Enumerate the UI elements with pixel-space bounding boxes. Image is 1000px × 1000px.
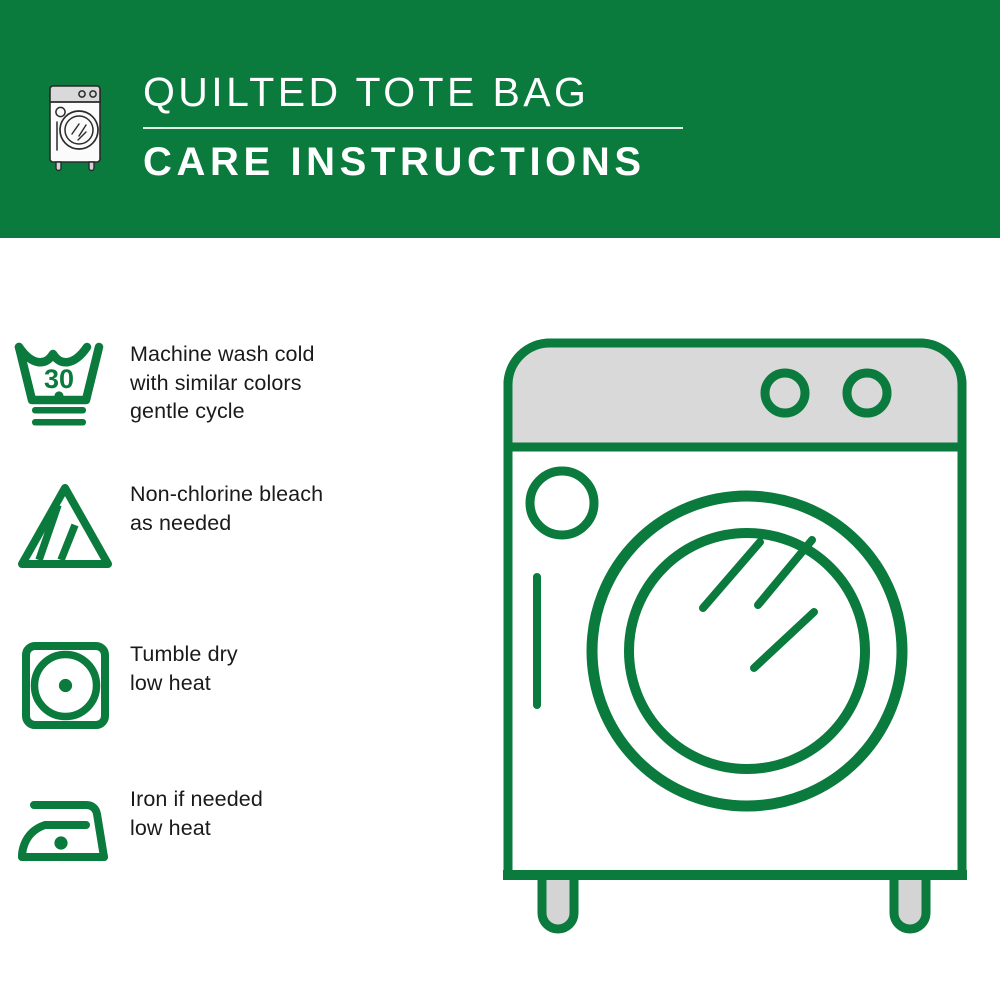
care-instructions-list: 30 Machine wash cold with similar colors… xyxy=(0,238,480,1000)
care-item-iron: Iron if needed low heat xyxy=(0,783,480,879)
page-title-product: QUILTED TOTE BAG xyxy=(143,66,703,118)
care-item-bleach: Non-chlorine bleach as needed xyxy=(0,478,480,574)
title-divider xyxy=(143,127,683,129)
care-text-line: Iron if needed xyxy=(130,785,263,814)
care-text-line: as needed xyxy=(130,509,323,538)
leg-left xyxy=(542,875,574,929)
care-text-line: with similar colors xyxy=(130,369,315,398)
care-item-bleach-text: Non-chlorine bleach as needed xyxy=(130,478,323,537)
care-text-line: Non-chlorine bleach xyxy=(130,480,323,509)
wash-tub-30-gentle-icon: 30 xyxy=(0,338,130,434)
header-banner: QUILTED TOTE BAG CARE INSTRUCTIONS xyxy=(0,0,1000,238)
care-item-machine-wash-text: Machine wash cold with similar colors ge… xyxy=(130,338,315,426)
care-item-iron-text: Iron if needed low heat xyxy=(130,783,263,842)
washing-machine-icon xyxy=(44,72,106,176)
control-panel xyxy=(508,343,962,447)
front-load-washing-machine-illustration xyxy=(490,325,980,940)
tumble-dry-low-heat-icon xyxy=(0,638,130,734)
triangle-non-chlorine-bleach-icon xyxy=(0,478,130,574)
iron-low-heat-icon xyxy=(0,783,130,879)
care-text-line: Machine wash cold xyxy=(130,340,315,369)
care-text-line: gentle cycle xyxy=(130,397,315,426)
care-text-line: low heat xyxy=(130,814,263,843)
care-item-tumble-dry: Tumble dry low heat xyxy=(0,638,480,734)
care-item-tumble-dry-text: Tumble dry low heat xyxy=(130,638,238,697)
care-text-line: Tumble dry xyxy=(130,640,238,669)
wash-temperature-label: 30 xyxy=(44,364,74,394)
header-title-block: QUILTED TOTE BAG CARE INSTRUCTIONS xyxy=(143,66,703,187)
care-item-machine-wash: 30 Machine wash cold with similar colors… xyxy=(0,338,480,434)
leg-right xyxy=(894,875,926,929)
page-title-subject: CARE INSTRUCTIONS xyxy=(143,137,703,187)
care-text-line: low heat xyxy=(130,669,238,698)
